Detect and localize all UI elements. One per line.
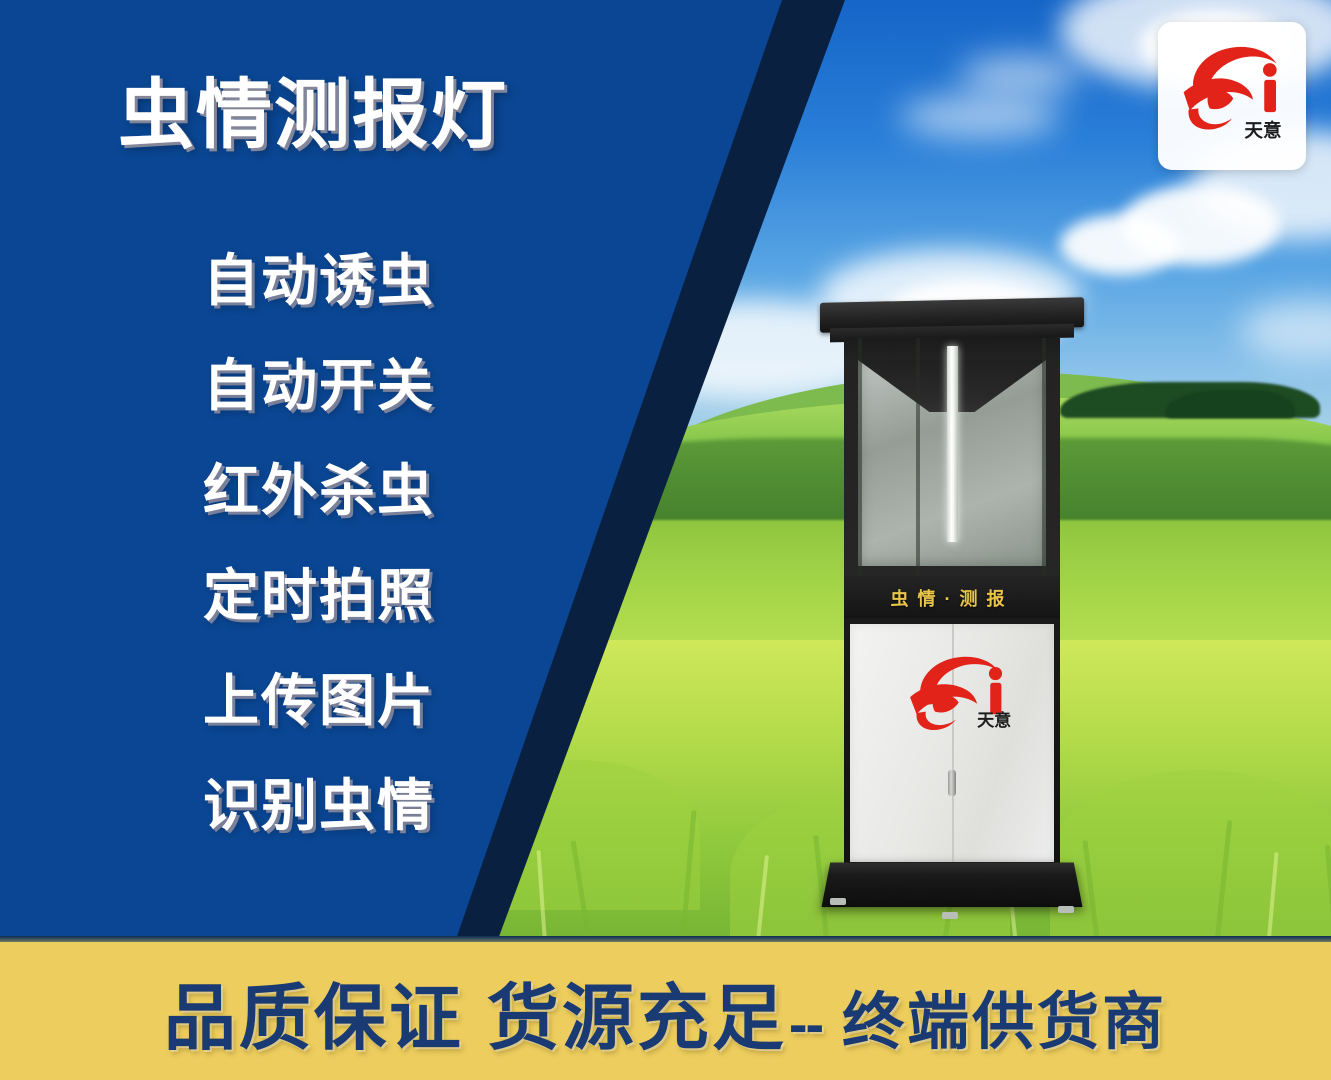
device-foot [830, 898, 846, 905]
banner-text: 品质保证 货源充足 -- 终端供货商 [164, 959, 1167, 1064]
svg-text:天意: 天意 [977, 710, 1011, 730]
uv-lamp-tube [947, 346, 958, 542]
cloud [900, 95, 1060, 139]
tianyi-logo-icon: 天意 [1170, 34, 1294, 158]
door-handle [948, 770, 956, 796]
device-glass-chamber [844, 338, 1060, 578]
device-door-panel: 天意 [844, 618, 1060, 868]
cabinet-label-text: 虫情·测报 [891, 585, 1014, 611]
glass-seam [916, 338, 920, 578]
device-base-plinth [821, 862, 1082, 907]
device-foot [1058, 906, 1074, 913]
feature-item: 识别虫情 [203, 753, 435, 858]
page-title: 虫情测报灯 [118, 78, 508, 154]
door-face: 天意 [850, 624, 1054, 862]
cloud [960, 55, 1080, 95]
feature-list: 自动诱虫 自动开关 红外杀虫 定时拍照 上传图片 识别虫情 [203, 228, 435, 858]
glass-seam [1042, 338, 1046, 578]
bottom-banner: 品质保证 货源充足 -- 终端供货商 [0, 942, 1331, 1080]
banner-dash: -- [787, 991, 824, 1056]
product-poster: 虫情·测报 天意 [0, 0, 1331, 1080]
feature-item: 自动开关 [203, 333, 435, 438]
cloud [1060, 215, 1180, 275]
device-foot [942, 912, 958, 919]
feature-item: 红外杀虫 [203, 438, 435, 543]
insect-monitoring-lamp-device: 虫情·测报 天意 [822, 300, 1082, 930]
glass-seam [858, 338, 862, 578]
tianyi-logo-icon: 天意 [894, 642, 1026, 734]
feature-item: 上传图片 [203, 648, 435, 753]
device-cabinet-label: 虫情·测报 [844, 576, 1060, 620]
banner-right-text: 终端供货商 [824, 971, 1167, 1061]
banner-left-text: 品质保证 货源充足 [164, 959, 787, 1064]
brand-logo-badge: 天意 [1158, 22, 1306, 170]
logo-brand-text: 天意 [1244, 120, 1281, 141]
feature-item: 自动诱虫 [203, 228, 435, 333]
feature-item: 定时拍照 [203, 543, 435, 648]
